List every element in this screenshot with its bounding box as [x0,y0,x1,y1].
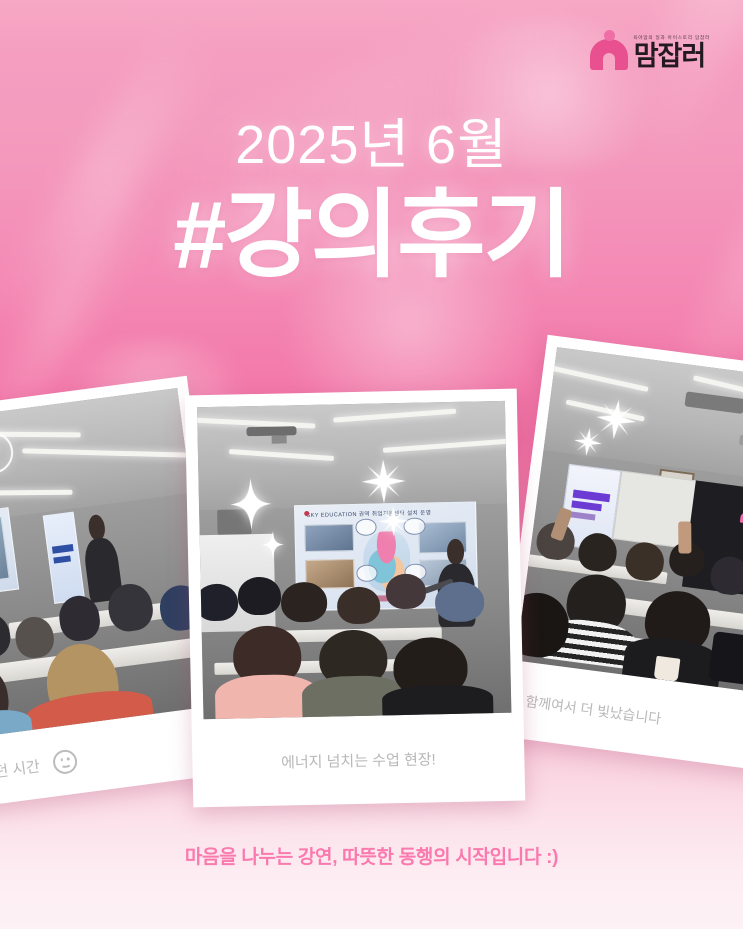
photo-caption-left-text: 있던 시간 [0,755,41,784]
photo-caption-center: 에너지 넘치는 수업 현장! [192,712,526,807]
brand-logo[interactable]: 육아맘의 일과 아이스토리 맘잡러 맘잡러 [590,30,709,70]
photo-image-right: 맘잡러 [516,347,743,695]
poster-canvas: 육아맘의 일과 아이스토리 맘잡러 맘잡러 2025년 6월 #강의후기 [0,0,743,929]
mom-figure-icon [590,30,628,70]
smiley-face-icon [52,748,79,775]
photo-card-right[interactable]: 맘잡러 [495,335,743,773]
headline-block: 2025년 6월 #강의후기 [0,118,743,284]
photo-card-center[interactable]: SKY EDUCATION 권역 취업지원센터 설치 운영 [185,389,526,808]
brand-tagline: 육아맘의 일과 아이스토리 맘잡러 [633,36,710,41]
headline-title: #강의후기 [0,188,743,284]
headline-year: 2025년 6월 [0,118,743,172]
photo-caption-right-text: 함께여서 더 빛났습니다 [524,691,662,729]
brand-wordmark: 맘잡러 [634,43,706,70]
footer-block: 마음을 나누는 강연, 따뜻한 동행의 시작입니다 :) [0,842,743,869]
photo-image-center: SKY EDUCATION 권역 취업지원센터 설치 운영 [197,401,511,719]
photo-caption-center-text: 에너지 넘치는 수업 현장! [281,748,436,772]
footer-text: 마음을 나누는 강연, 따뜻한 동행의 시작입니다 :) [0,842,743,869]
brand-logo-text: 육아맘의 일과 아이스토리 맘잡러 맘잡러 [634,36,709,71]
